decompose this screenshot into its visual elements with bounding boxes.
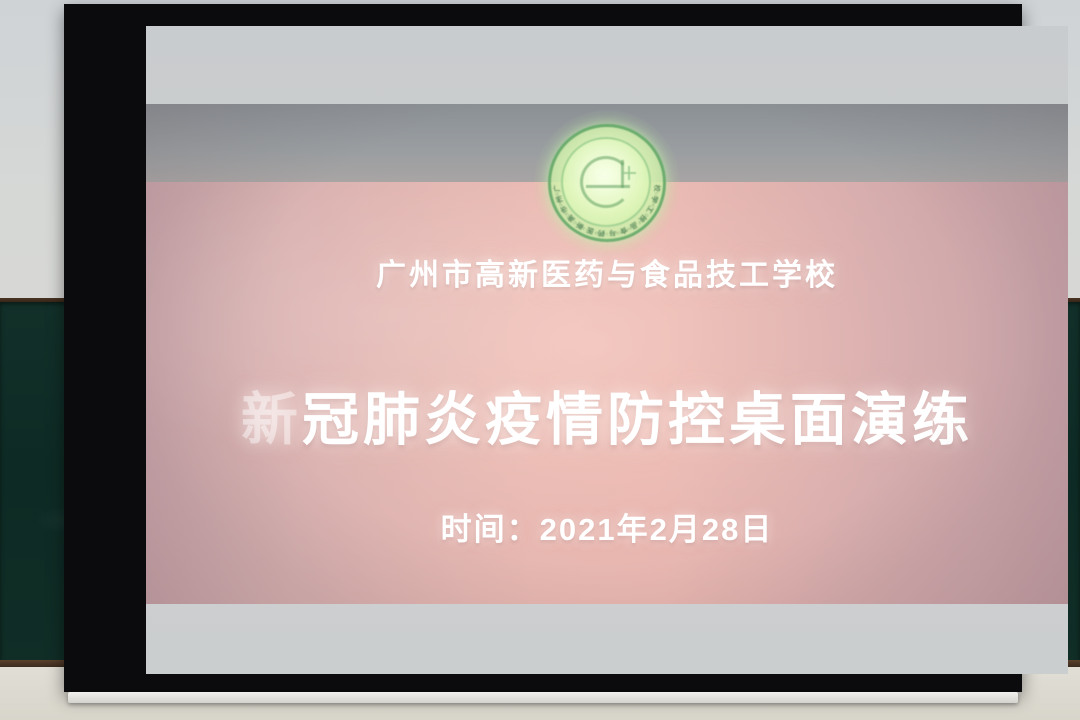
projection-screen-frame: 广州市高新医药与食品技工学校 GUANGZHOU GAOXIN MEDICINE… <box>64 4 1022 692</box>
slide-school-name: 广州市高新医药与食品技工学校 <box>146 250 1068 294</box>
slide-title-faded-prefix: 新 <box>241 388 302 452</box>
slide-title-rest: 冠肺炎疫情防控桌面演练 <box>302 388 973 452</box>
emblem-center-mark <box>576 154 638 210</box>
slide-main-title: 新冠肺炎疫情防控桌面演练 <box>146 374 1068 456</box>
projection-screen-surface: 广州市高新医药与食品技工学校 GUANGZHOU GAOXIN MEDICINE… <box>146 26 1068 674</box>
classroom-scene: 广州市高新医药与食品技工学校 GUANGZHOU GAOXIN MEDICINE… <box>0 0 1080 720</box>
projected-slide: 广州市高新医药与食品技工学校 GUANGZHOU GAOXIN MEDICINE… <box>146 104 1068 604</box>
slide-date-line: 时间：2021年2月28日 <box>146 504 1068 549</box>
projection-screen-weight-bar <box>68 692 1018 703</box>
school-emblem-icon: 广州市高新医药与食品技工学校 GUANGZHOU GAOXIN MEDICINE… <box>548 124 666 242</box>
